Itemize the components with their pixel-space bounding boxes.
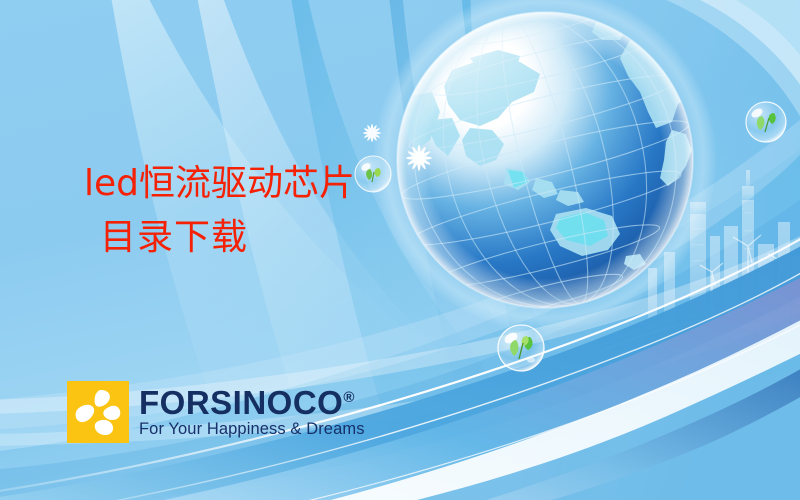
banner-canvas: led恒流驱动芯片 目录下载 FORSINOCO® (0, 0, 800, 500)
registered-trademark-icon: ® (343, 389, 355, 406)
logo-text-block: FORSINOCO® For Your Happiness & Dreams (139, 386, 365, 438)
logo-mark-icon (67, 381, 129, 443)
logo-tagline: For Your Happiness & Dreams (139, 421, 365, 438)
bubble-sprout-right (746, 102, 786, 142)
four-petal-pinwheel-icon (67, 381, 129, 443)
bubble-sprout-top (355, 156, 391, 192)
logo-brand-name: FORSINOCO (139, 384, 343, 421)
headline-line-1: led恒流驱动芯片 (84, 166, 355, 202)
brand-logo[interactable]: FORSINOCO® For Your Happiness & Dreams (67, 381, 365, 443)
headline-line-2: 目录下载 (100, 220, 355, 256)
headline-text: led恒流驱动芯片 目录下载 (84, 166, 355, 256)
bubble-sprout-middle (498, 325, 544, 371)
logo-wordmark: FORSINOCO® (139, 386, 365, 419)
